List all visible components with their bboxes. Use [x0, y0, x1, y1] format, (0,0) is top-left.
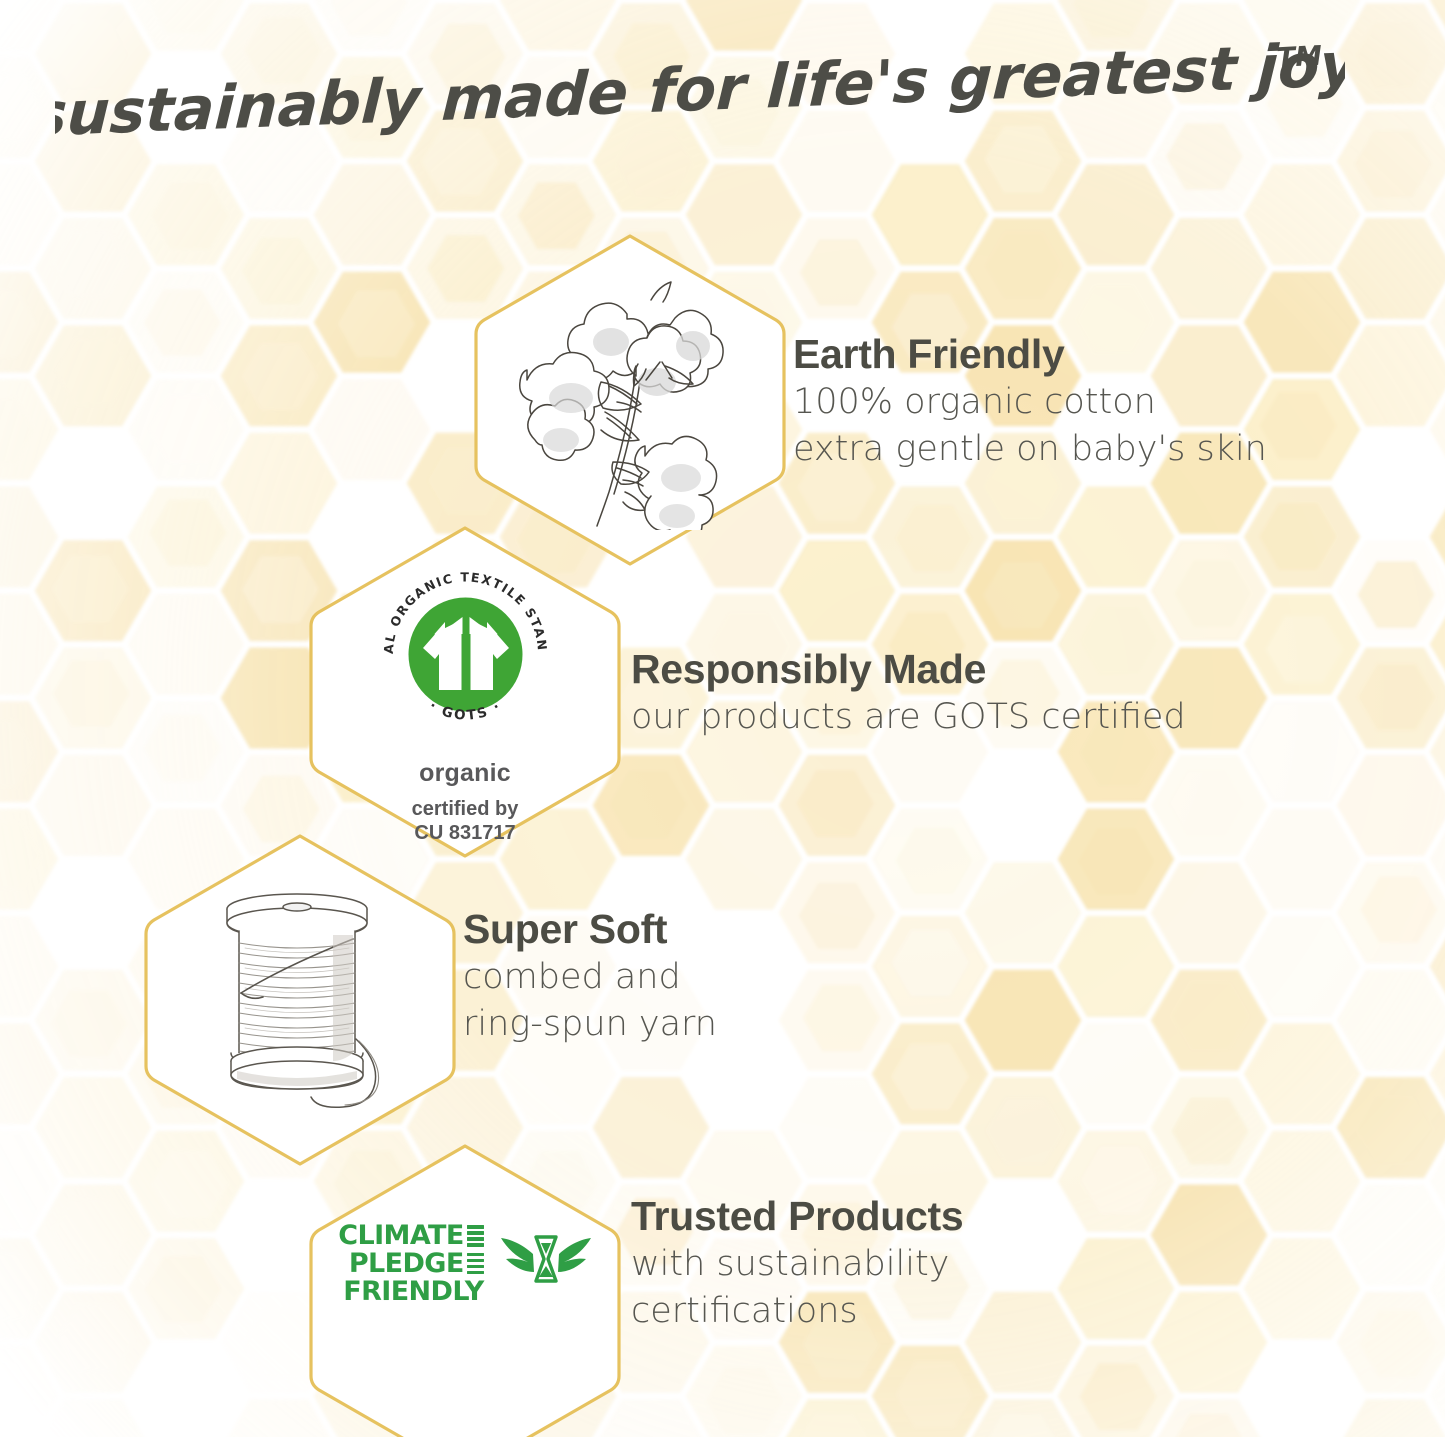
honeycomb-cell-wash — [987, 1097, 1064, 1164]
honeycomb-cell-wash — [242, 238, 319, 305]
honeycomb-cell — [686, 809, 803, 910]
honeycomb-cell-wash — [983, 1415, 1060, 1437]
feature-line-1: 100% organic cotton — [793, 380, 1267, 425]
honeycomb-cell — [1151, 1185, 1268, 1286]
honeycomb-cell-wash — [892, 929, 969, 996]
honeycomb-cell — [1430, 164, 1445, 265]
gots-green-disc — [408, 598, 522, 712]
honeycomb-cell — [779, 970, 896, 1071]
honeycomb-cell — [128, 487, 245, 588]
feature-title: Earth Friendly — [793, 330, 1267, 378]
cotton-plant-sketch-icon — [505, 270, 755, 530]
honeycomb-cell-wash — [887, 184, 964, 251]
honeycomb-cell — [0, 379, 58, 480]
honeycomb-cell-wash — [152, 183, 229, 250]
honeycomb-cell — [35, 1185, 152, 1286]
honeycomb-cell-wash — [0, 1363, 36, 1430]
feature-title: Super Soft — [463, 905, 717, 953]
honeycomb-cell-wash — [1260, 392, 1337, 459]
honeycomb-cell — [1244, 916, 1361, 1017]
honeycomb-cell — [1244, 594, 1361, 695]
honeycomb-cell-wash — [52, 556, 129, 623]
honeycomb-cell-wash — [50, 990, 127, 1057]
feature-line-1: combed and — [463, 955, 717, 1000]
honeycomb-cell — [35, 755, 152, 856]
feature-line-2: extra gentle on baby's skin — [793, 427, 1267, 472]
honeycomb-cell — [1337, 540, 1445, 641]
honeycomb-cell-wash — [1360, 876, 1437, 943]
honeycomb-cell-wash — [706, 1367, 783, 1434]
honeycomb-cell — [1244, 1023, 1361, 1124]
honeycomb-cell-wash — [150, 396, 227, 463]
honeycomb-cell-wash — [896, 1362, 973, 1429]
honeycomb-cell-wash — [797, 770, 874, 837]
honeycomb-cell — [779, 1077, 896, 1178]
honeycomb-cell — [1058, 809, 1175, 910]
honeycomb-cell-wash — [144, 1256, 221, 1323]
honeycomb-cell — [1058, 487, 1175, 588]
honeycomb-cell — [872, 164, 989, 265]
honeycomb-cell — [0, 594, 58, 695]
feature-hex-super-soft — [140, 830, 460, 1170]
honeycomb-cell — [0, 809, 58, 910]
cpf-bars-icon — [467, 1253, 484, 1275]
honeycomb-cell — [314, 164, 431, 265]
honeycomb-cell — [314, 272, 431, 373]
honeycomb-cell — [128, 1238, 245, 1339]
honeycomb-cell — [1151, 755, 1268, 856]
climate-pledge-friendly-icon: CLIMATE PLEDGE FRIENDLY — [338, 1222, 591, 1305]
honeycomb-cell-wash — [800, 239, 877, 306]
honeycomb-cell — [872, 916, 989, 1017]
honeycomb-cell-wash — [56, 339, 133, 406]
honeycomb-cell — [221, 218, 338, 319]
honeycomb-cell — [128, 164, 245, 265]
honeycomb-cell — [872, 487, 989, 588]
cpf-word-pledge: PLEDGE — [349, 1250, 464, 1278]
honeycomb-cell — [1244, 164, 1361, 265]
honeycomb-cell — [872, 1023, 989, 1124]
honeycomb-cell — [0, 164, 58, 265]
honeycomb-cell-wash — [0, 398, 34, 465]
honeycomb-cell — [1244, 809, 1361, 910]
feature-title: Trusted Products — [631, 1192, 963, 1240]
honeycomb-cell-wash — [59, 1304, 136, 1371]
honeycomb-cell-wash — [330, 0, 407, 36]
infographic-canvas: sustainably made for life's greatest joy… — [0, 0, 1445, 1437]
honeycomb-cell-wash — [803, 985, 880, 1052]
honeycomb-cell — [1337, 862, 1445, 963]
gots-organic-label: organic — [419, 759, 511, 788]
honeycomb-cell — [1337, 648, 1445, 749]
honeycomb-cell-wash — [338, 291, 415, 358]
honeycomb-cell-wash — [1078, 828, 1155, 895]
honeycomb-cell — [35, 325, 152, 426]
feature-hex-earth-friendly — [470, 230, 790, 570]
honeycomb-cell — [1430, 916, 1445, 1017]
honeycomb-cell — [1430, 1023, 1445, 1124]
honeycomb-cell — [779, 755, 896, 856]
feature-title: Responsibly Made — [631, 645, 1186, 693]
thread-spool-sketch-icon — [193, 885, 408, 1115]
honeycomb-cell — [779, 1399, 896, 1437]
honeycomb-cell-wash — [1081, 1147, 1158, 1214]
honeycomb-cell — [35, 540, 152, 641]
honeycomb-cell — [35, 218, 152, 319]
honeycomb-cell — [965, 1292, 1082, 1393]
honeycomb-cell — [1430, 1346, 1445, 1437]
honeycomb-cell — [1058, 916, 1175, 1017]
honeycomb-cell — [1337, 1399, 1445, 1437]
honeycomb-cell-wash — [983, 562, 1060, 629]
honeycomb-cell-wash — [1172, 1098, 1249, 1165]
honeycomb-cell — [128, 701, 245, 802]
honeycomb-cell — [1058, 1131, 1175, 1232]
honeycomb-cell — [1337, 1292, 1445, 1393]
honeycomb-cell-wash — [895, 505, 972, 571]
honeycomb-cell — [1430, 594, 1445, 695]
honeycomb-cell — [128, 272, 245, 373]
honeycomb-cell — [0, 487, 58, 588]
honeycomb-cell — [128, 379, 245, 480]
honeycomb-cell — [35, 1292, 152, 1393]
honeycomb-cell-wash — [1358, 664, 1435, 731]
honeycomb-cell-wash — [1080, 1363, 1157, 1430]
honeycomb-cell — [779, 540, 896, 641]
cpf-word-friendly: FRIENDLY — [343, 1278, 483, 1306]
honeycomb-cell — [221, 325, 338, 426]
trademark-symbol: TM — [1276, 41, 1323, 74]
honeycomb-cell-wash — [1259, 503, 1336, 570]
honeycomb-cell — [221, 433, 338, 534]
honeycomb-cell-wash — [144, 289, 221, 356]
honeycomb-cell — [1337, 1185, 1445, 1286]
honeycomb-cell — [314, 379, 431, 480]
honeycomb-cell — [1430, 0, 1445, 51]
honeycomb-cell — [0, 1346, 58, 1437]
honeycomb-cell — [1337, 325, 1445, 426]
honeycomb-cell — [1058, 1238, 1175, 1339]
honeycomb-cell — [0, 1131, 58, 1232]
honeycomb-cell — [0, 1238, 58, 1339]
honeycomb-cell — [1430, 809, 1445, 910]
feature-line-2: certifications — [631, 1289, 963, 1334]
honeycomb-cell — [1337, 755, 1445, 856]
honeycomb-cell — [1244, 701, 1361, 802]
honeycomb-cell — [0, 916, 58, 1017]
honeycomb-cell — [1337, 1077, 1445, 1178]
honeycomb-cell — [1058, 1346, 1175, 1437]
honeycomb-cell — [965, 1077, 1082, 1178]
honeycomb-cell-wash — [799, 883, 876, 950]
honeycomb-cell — [1430, 379, 1445, 480]
feature-text-responsibly-made: Responsibly Made our products are GOTS c… — [631, 645, 1186, 740]
gots-certification-icon: GLOBAL ORGANIC TEXTILE STANDARD · GOTS · — [373, 562, 558, 747]
feature-line-1: with sustainability — [631, 1242, 963, 1287]
gots-certified-by: certified by — [412, 797, 519, 821]
honeycomb-cell-wash — [150, 499, 227, 566]
honeycomb-cell — [1430, 272, 1445, 373]
feature-hex-trusted-products: CLIMATE PLEDGE FRIENDLY — [305, 1140, 625, 1437]
honeycomb-cell — [686, 1346, 803, 1437]
honeycomb-cell — [1244, 1238, 1361, 1339]
honeycomb-cell — [35, 1399, 152, 1437]
honeycomb-cell — [1058, 164, 1175, 265]
honeycomb-cell-wash — [796, 1413, 873, 1437]
honeycomb-cell-wash — [52, 231, 129, 298]
honeycomb-cell — [1151, 970, 1268, 1071]
honeycomb-cell — [1430, 1131, 1445, 1232]
honeycomb-cell — [965, 540, 1082, 641]
gots-badge: GLOBAL ORGANIC TEXTILE STANDARD · GOTS ·… — [373, 562, 558, 846]
page-headline: sustainably made for life's greatest joy… — [0, 34, 1400, 144]
honeycomb-cell — [35, 970, 152, 1071]
feature-line-1: our products are GOTS certified — [631, 695, 1186, 740]
honeycomb-cell — [1151, 218, 1268, 319]
honeycomb-cell-wash — [0, 291, 37, 358]
honeycomb-cell — [35, 1077, 152, 1178]
honeycomb-cell — [779, 862, 896, 963]
honeycomb-cell — [1430, 487, 1445, 588]
honeycomb-cell — [779, 218, 896, 319]
honeycomb-cell-wash — [1175, 560, 1252, 627]
honeycomb-cell-wash — [1266, 616, 1343, 683]
honeycomb-cell — [1244, 1131, 1361, 1232]
honeycomb-cell — [1430, 1238, 1445, 1339]
honeycomb-cell-wash — [144, 715, 221, 782]
honeycomb-cell — [128, 594, 245, 695]
feature-text-super-soft: Super Soft combed and ring-spun yarn — [463, 905, 717, 1047]
honeycomb-cell — [872, 1346, 989, 1437]
honeycomb-cell-wash — [52, 1199, 129, 1266]
honeycomb-cell — [1151, 1077, 1268, 1178]
honeycomb-cell — [965, 1399, 1082, 1437]
honeycomb-cell-wash — [1358, 561, 1435, 628]
honeycomb-cell — [1151, 862, 1268, 963]
headline-script: sustainably made for life's greatest joy — [55, 34, 1345, 144]
honeycomb-cell-wash — [0, 721, 36, 788]
honeycomb-cell-wash — [0, 1253, 43, 1320]
honeycomb-cell — [1151, 1292, 1268, 1393]
honeycomb-cell — [1058, 1023, 1175, 1124]
honeycomb-cell-wash — [1360, 1311, 1437, 1378]
honeycomb-cell — [872, 809, 989, 910]
honeycomb-cell-wash — [1171, 1414, 1248, 1437]
cpf-bars-icon — [467, 1225, 484, 1247]
honeycomb-cell — [1151, 540, 1268, 641]
honeycomb-cell-wash — [892, 1044, 969, 1111]
honeycomb-cell-wash — [148, 0, 225, 33]
honeycomb-cell — [0, 1023, 58, 1124]
cpf-word-climate: CLIMATE — [338, 1222, 463, 1250]
honeycomb-cell — [1430, 701, 1445, 802]
honeycomb-cell — [965, 970, 1082, 1071]
honeycomb-cell-wash — [985, 232, 1062, 299]
honeycomb-cell-wash — [896, 827, 973, 894]
honeycomb-cell — [965, 218, 1082, 319]
feature-text-earth-friendly: Earth Friendly 100% organic cotton extra… — [793, 330, 1267, 472]
climate-pledge-wordmark: CLIMATE PLEDGE FRIENDLY — [338, 1222, 483, 1305]
honeycomb-cell — [35, 648, 152, 749]
honeycomb-cell — [1337, 970, 1445, 1071]
feature-line-2: ring-spun yarn — [463, 1002, 717, 1047]
honeycomb-cell — [0, 272, 58, 373]
honeycomb-cell-wash — [242, 343, 319, 410]
feature-text-trusted-products: Trusted Products with sustainability cer… — [631, 1192, 963, 1334]
honeycomb-cell — [1151, 1399, 1268, 1437]
honeycomb-cell-wash — [0, 822, 41, 889]
honeycomb-cell — [1337, 218, 1445, 319]
honeycomb-cell-wash — [1073, 0, 1150, 37]
honeycomb-cell — [1244, 487, 1361, 588]
winged-hourglass-icon — [500, 1228, 592, 1300]
honeycomb-cell-wash — [1168, 770, 1245, 837]
honeycomb-cell-wash — [1173, 983, 1250, 1050]
honeycomb-cell-wash — [1357, 1097, 1434, 1164]
honeycomb-cell — [965, 862, 1082, 963]
honeycomb-cell-wash — [53, 660, 130, 727]
honeycomb-cell — [1430, 57, 1445, 158]
honeycomb-cell — [0, 701, 58, 802]
feature-hex-responsibly-made: GLOBAL ORGANIC TEXTILE STANDARD · GOTS ·… — [305, 522, 625, 862]
